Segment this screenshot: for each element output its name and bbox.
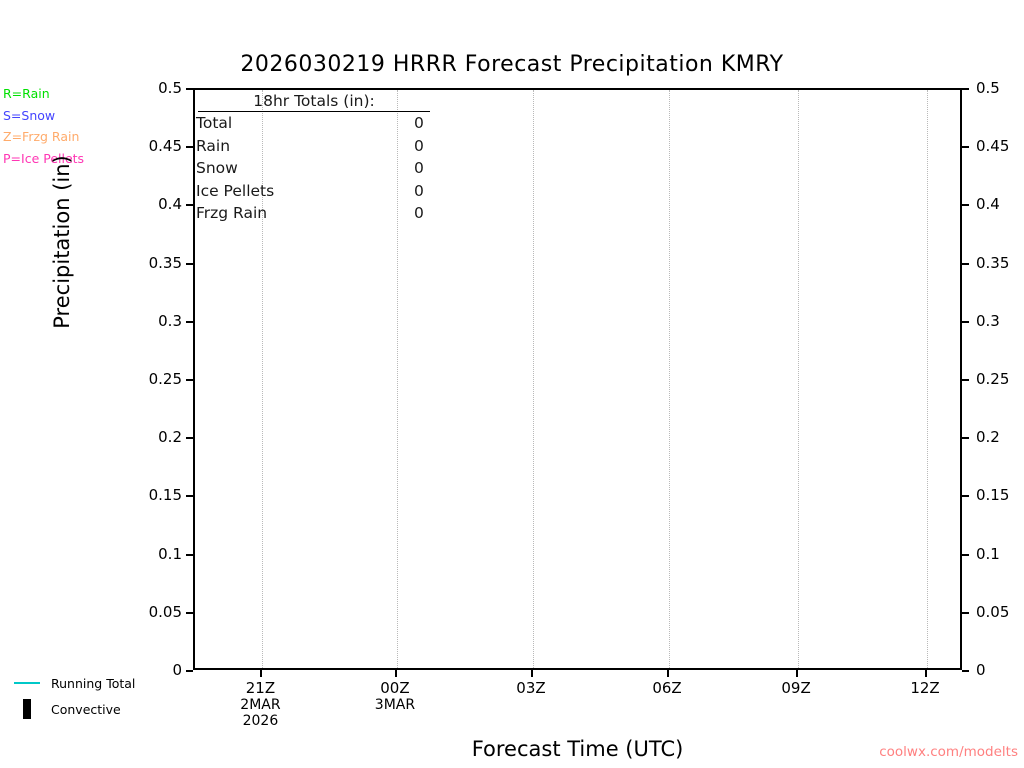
y-tick-label-left-3: 0.15 [122,486,182,504]
y-axis-title: Precipitation (in) [50,112,74,372]
x-tick-label-00Z: 00Z3MAR [335,679,455,713]
x-tick-06Z [667,670,669,677]
x-tick-03Z [531,670,533,677]
x-axis-title: Forecast Time (UTC) [193,737,962,761]
totals-rows: Total0Rain0Snow0Ice Pellets0Frzg Rain0 [196,112,462,225]
y-tick-label-right-6: 0.3 [976,312,1024,330]
y-tick-label-right-9: 0.45 [976,137,1024,155]
y-tick-right-6 [962,321,969,323]
y-tick-right-10 [962,88,969,90]
totals-heading: 18hr Totals (in): [198,90,430,112]
y-tick-label-left-8: 0.4 [122,195,182,213]
bar-swatch-icon [23,699,31,719]
y-tick-right-1 [962,612,969,614]
x-tick-time: 06Z [652,679,681,697]
page-title: 2026030219 HRRR Forecast Precipitation K… [0,52,1024,77]
y-tick-right-5 [962,379,969,381]
totals-row-name: Rain [196,135,414,158]
y-tick-label-left-2: 0.1 [122,545,182,563]
totals-row: Ice Pellets0 [196,180,462,203]
totals-inset-box: 18hr Totals (in): Total0Rain0Snow0Ice Pe… [196,90,462,225]
legend-item-line: Running Total [14,670,135,696]
y-tick-left-7 [186,263,193,265]
x-tick-time: 00Z [380,679,409,697]
x-tick-date: 2MAR [200,697,320,713]
y-tick-label-right-7: 0.35 [976,254,1024,272]
totals-row: Frzg Rain0 [196,202,462,225]
y-tick-label-left-10: 0.5 [122,79,182,97]
y-tick-right-3 [962,495,969,497]
y-tick-label-right-10: 0.5 [976,79,1024,97]
y-tick-label-right-2: 0.1 [976,545,1024,563]
x-tick-year: 2026 [200,713,320,729]
legend-item-label: Running Total [51,676,135,691]
y-tick-label-right-1: 0.05 [976,603,1024,621]
precip-type-key-item-0: R=Rain [3,83,84,105]
y-tick-left-6 [186,321,193,323]
x-tick-00Z [395,670,397,677]
y-tick-label-left-1: 0.05 [122,603,182,621]
y-tick-right-9 [962,146,969,148]
y-tick-right-4 [962,437,969,439]
x-tick-time: 03Z [516,679,545,697]
y-tick-right-7 [962,263,969,265]
y-tick-label-left-5: 0.25 [122,370,182,388]
totals-row-name: Frzg Rain [196,202,414,225]
x-tick-time: 21Z [246,679,275,697]
totals-row-value: 0 [414,112,454,135]
legend-item-label: Convective [51,702,121,717]
y-tick-left-3 [186,495,193,497]
totals-row-value: 0 [414,180,454,203]
y-tick-label-right-5: 0.25 [976,370,1024,388]
y-tick-left-1 [186,612,193,614]
line-swatch-icon [14,682,40,684]
y-tick-label-right-0: 0 [976,661,1024,679]
x-tick-21Z [260,670,262,677]
x-tick-label-21Z: 21Z2MAR2026 [200,679,320,729]
totals-row-value: 0 [414,157,454,180]
totals-row-value: 0 [414,202,454,225]
y-tick-left-0 [186,670,193,672]
y-tick-left-8 [186,204,193,206]
series-legend: Running TotalConvective [14,670,135,722]
x-tick-label-09Z: 09Z [736,679,856,697]
y-tick-right-2 [962,554,969,556]
y-tick-left-5 [186,379,193,381]
y-tick-right-0 [962,670,969,672]
watermark: coolwx.com/modelts [879,744,1018,760]
y-tick-left-10 [186,88,193,90]
y-tick-left-4 [186,437,193,439]
y-tick-right-8 [962,204,969,206]
totals-row: Snow0 [196,157,462,180]
x-tick-date: 3MAR [335,697,455,713]
y-tick-label-left-7: 0.35 [122,254,182,272]
totals-row-value: 0 [414,135,454,158]
totals-row-name: Ice Pellets [196,180,414,203]
y-tick-label-right-8: 0.4 [976,195,1024,213]
legend-item-bar: Convective [14,696,135,722]
totals-row: Total0 [196,112,462,135]
y-tick-label-left-6: 0.3 [122,312,182,330]
y-tick-label-left-4: 0.2 [122,428,182,446]
x-tick-label-06Z: 06Z [607,679,727,697]
y-tick-label-right-4: 0.2 [976,428,1024,446]
y-tick-left-2 [186,554,193,556]
x-tick-time: 12Z [910,679,939,697]
x-tick-09Z [796,670,798,677]
x-tick-label-03Z: 03Z [471,679,591,697]
y-tick-left-9 [186,146,193,148]
x-tick-label-12Z: 12Z [865,679,985,697]
totals-row-name: Total [196,112,414,135]
x-tick-12Z [925,670,927,677]
totals-row-name: Snow [196,157,414,180]
totals-row: Rain0 [196,135,462,158]
y-tick-label-left-9: 0.45 [122,137,182,155]
x-tick-time: 09Z [781,679,810,697]
y-tick-label-right-3: 0.15 [976,486,1024,504]
